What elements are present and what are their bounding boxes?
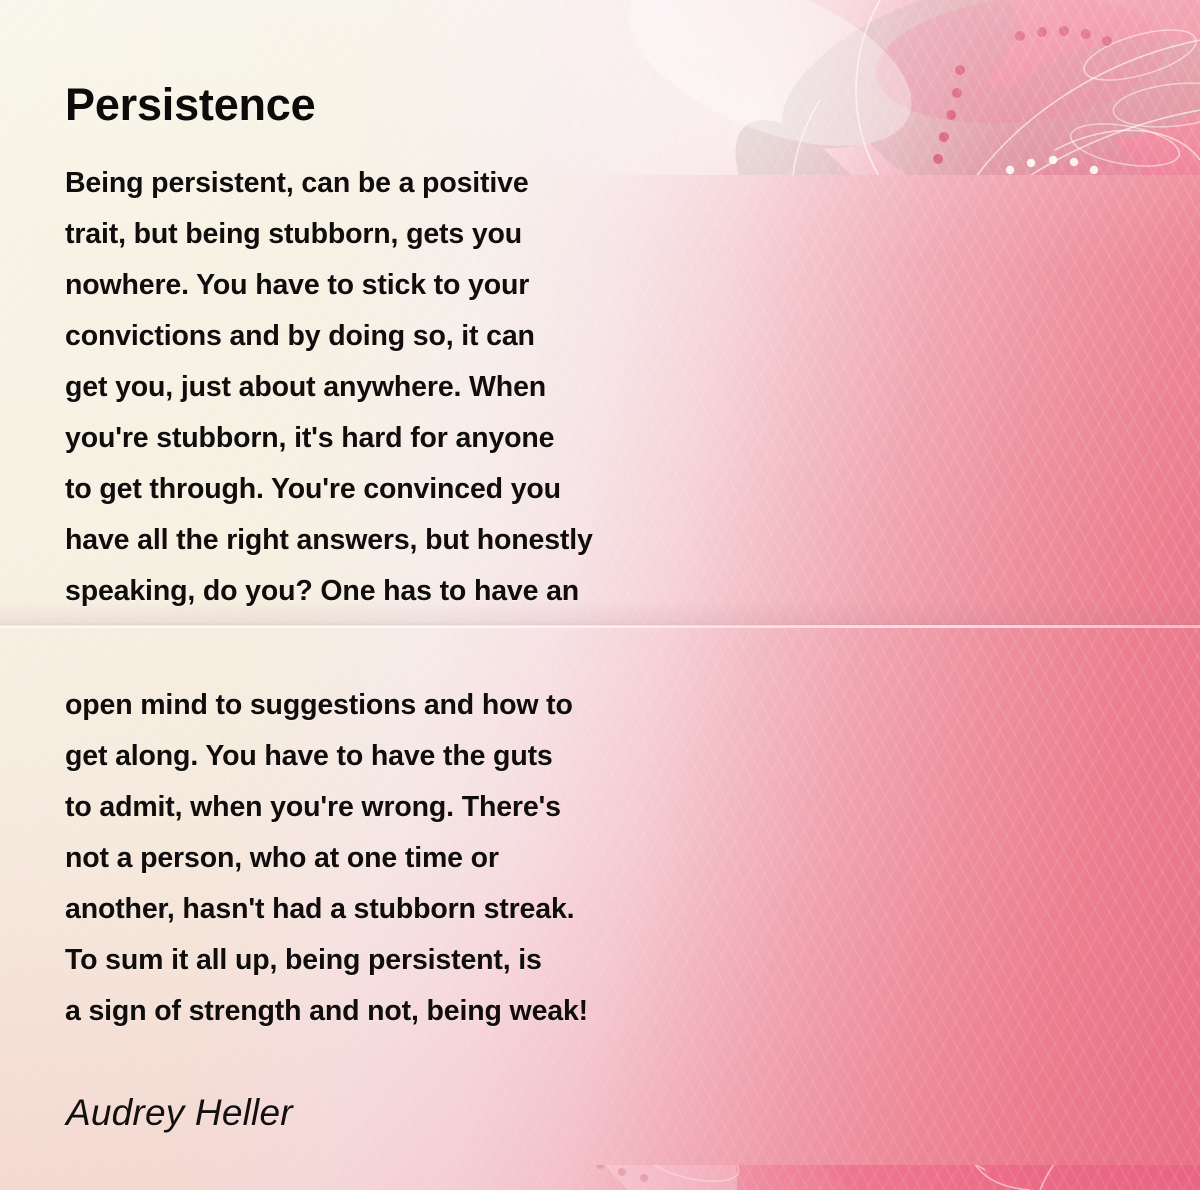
poem-line: to get through. You're convinced you bbox=[65, 464, 593, 515]
poem-line: not a person, who at one time or bbox=[65, 833, 588, 884]
poem-stanza-1: Being persistent, can be a positive trai… bbox=[65, 158, 593, 617]
poem-line: convictions and by doing so, it can bbox=[65, 311, 593, 362]
poem-line: get you, just about anywhere. When bbox=[65, 362, 593, 413]
poem-line: open mind to suggestions and how to bbox=[65, 680, 588, 731]
poem-line: nowhere. You have to stick to your bbox=[65, 260, 593, 311]
poem-stanza-2: open mind to suggestions and how to get … bbox=[65, 680, 588, 1037]
poem-line: To sum it all up, being persistent, is bbox=[65, 935, 588, 986]
poem-line: a sign of strength and not, being weak! bbox=[65, 986, 588, 1037]
page-title: Persistence bbox=[65, 82, 315, 127]
poem-line: you're stubborn, it's hard for anyone bbox=[65, 413, 593, 464]
poem-content: Persistence Being persistent, can be a p… bbox=[0, 0, 1200, 1190]
poem-line: Being persistent, can be a positive bbox=[65, 158, 593, 209]
author-byline: Audrey Heller bbox=[66, 1092, 293, 1134]
poem-line: to admit, when you're wrong. There's bbox=[65, 782, 588, 833]
poem-line: speaking, do you? One has to have an bbox=[65, 566, 593, 617]
poem-card: Persistence Being persistent, can be a p… bbox=[0, 0, 1200, 1190]
poem-line: another, hasn't had a stubborn streak. bbox=[65, 884, 588, 935]
poem-line: get along. You have to have the guts bbox=[65, 731, 588, 782]
poem-line: have all the right answers, but honestly bbox=[65, 515, 593, 566]
poem-line: trait, but being stubborn, gets you bbox=[65, 209, 593, 260]
